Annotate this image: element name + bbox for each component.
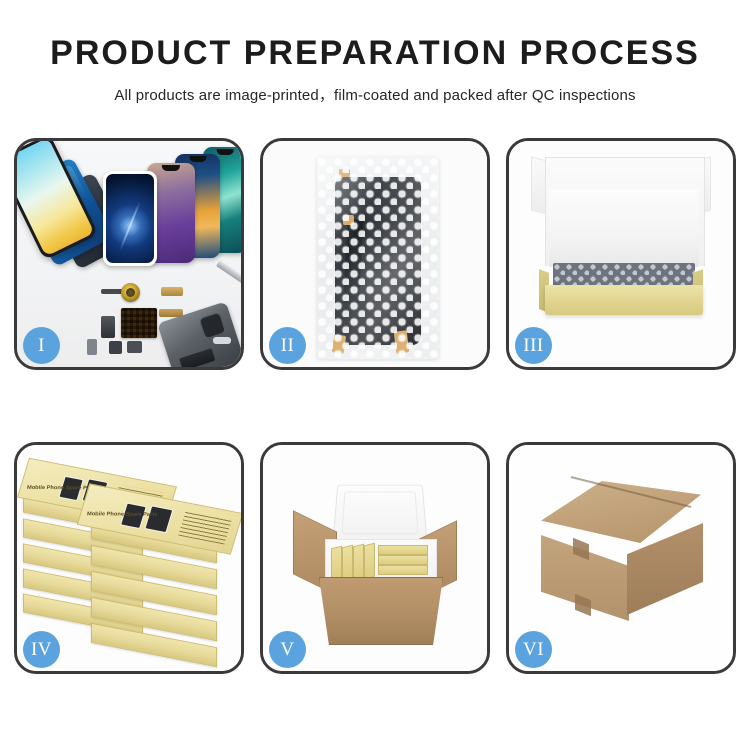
panel-badge-2: II [269, 327, 306, 364]
panel-badge-1: I [23, 327, 60, 364]
bubble-wrap-bag [317, 157, 439, 359]
packed-unit [378, 565, 428, 575]
spare-part-button [109, 341, 122, 354]
packed-unit [378, 555, 428, 565]
process-panel-1[interactable]: I [14, 138, 244, 370]
page-header: PRODUCT PREPARATION PROCESS All products… [0, 0, 750, 105]
packed-unit [353, 544, 364, 579]
spare-part-flex-cable [101, 316, 115, 338]
box-text-lines [178, 511, 231, 544]
page-subtitle: All products are image-printed，film-coat… [0, 84, 750, 105]
panel-badge-3: III [515, 327, 552, 364]
process-panel-grid: I II [14, 138, 736, 674]
panel-badge-4: IV [23, 631, 60, 668]
process-panel-4[interactable]: Mobile Phone Spare Parts Mobile Phone Sp… [14, 442, 244, 674]
shipping-carton-body [319, 577, 443, 645]
phone-notch-icon [162, 165, 180, 171]
spare-part-sim-tray [87, 339, 97, 355]
packed-unit [378, 545, 428, 555]
packed-unit [342, 545, 353, 579]
panel-badge-6: VI [515, 631, 552, 668]
box-window-left [58, 476, 84, 501]
page-title: PRODUCT PREPARATION PROCESS [0, 36, 750, 70]
spare-part-speaker-coil [121, 283, 140, 302]
box-front-panel [545, 285, 703, 315]
phone-notch-icon [217, 149, 234, 155]
process-panel-5[interactable]: V [260, 442, 490, 674]
box-window-left [120, 503, 147, 530]
process-panel-2[interactable]: II [260, 138, 490, 370]
box-window-right [144, 505, 173, 533]
foam-box-lid [332, 485, 427, 543]
spare-part-gold-connector [161, 287, 183, 296]
foam-liner [549, 189, 699, 267]
process-panel-6[interactable]: VI [506, 442, 736, 674]
panel-badge-5: V [269, 631, 306, 668]
screen-protector-glass [103, 171, 157, 266]
plastic-sheen [317, 157, 439, 359]
screen-protector-inner [106, 174, 154, 263]
spare-part-screws [213, 337, 231, 344]
packed-unit [364, 543, 375, 579]
spare-part-camera [127, 341, 142, 353]
spare-part-chip-grid [121, 308, 157, 338]
packed-unit [331, 546, 342, 579]
process-panel-3[interactable]: III [506, 138, 736, 370]
packed-units-group [331, 543, 429, 579]
phone-notch-icon [189, 156, 206, 162]
